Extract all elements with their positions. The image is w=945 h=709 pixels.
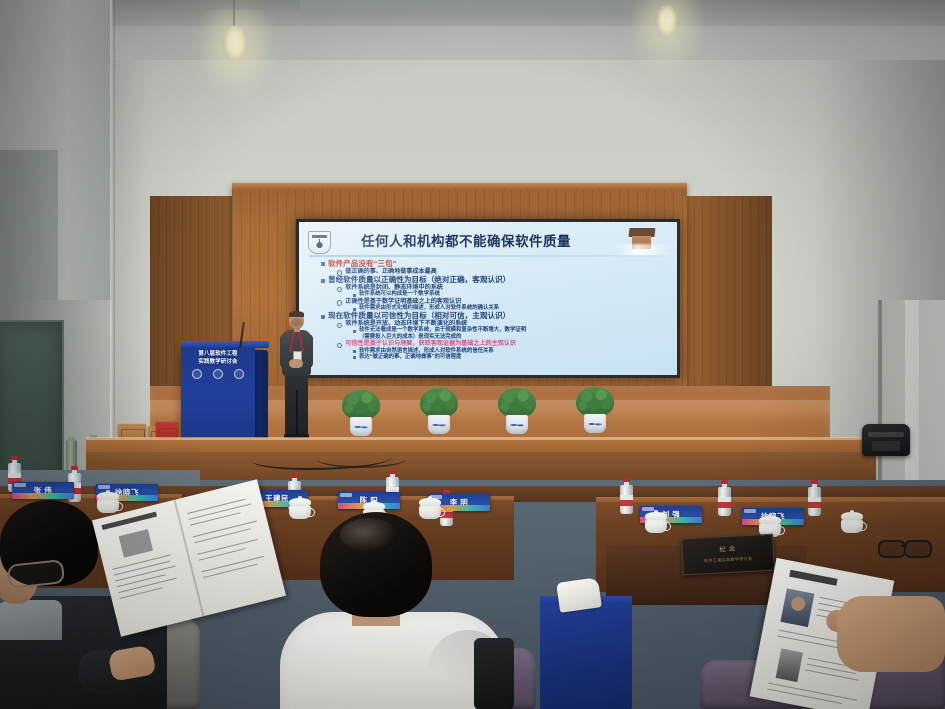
conference-tote-bag (540, 602, 632, 709)
potted-plant (418, 388, 460, 436)
ceiling-spotlight-right (655, 5, 679, 39)
presenter-hair (289, 311, 304, 317)
attendee-shoulder-bag (474, 638, 514, 709)
attendee-holding-program (742, 560, 945, 709)
attendee-collar (0, 600, 62, 640)
ceiling-beam-secondary (300, 0, 640, 16)
potted-plant (574, 387, 616, 435)
sponsor-logo-icon (213, 369, 223, 379)
conference-hall-photo: 任何人和机构都不能确保软件质量 软件产品没有“三包” 做正确的事、正确地做事成本… (0, 0, 945, 709)
podium-banner-text: 第八届软件工程 实践教学研讨会 (186, 351, 250, 367)
presenter (276, 312, 314, 440)
potted-plant (340, 390, 382, 438)
left-column-alcove (0, 150, 58, 300)
left-column-edge (110, 0, 115, 480)
presentation-slide: 任何人和机构都不能确保软件质量 软件产品没有“三包” 做正确的事、正确地做事成本… (299, 222, 677, 375)
presenter-leg-split (296, 390, 298, 436)
water-bottle (620, 478, 633, 514)
podium-logo-row (186, 368, 250, 380)
sponsor-logo-icon (192, 369, 202, 379)
water-bottle (718, 480, 731, 516)
tissue-paper (556, 577, 602, 613)
presenter-hands (289, 359, 303, 368)
plaque-title: 纪 念 (683, 542, 773, 556)
water-bottle (808, 480, 821, 516)
attendee-hand (837, 596, 945, 672)
stage-wall-top-trim (232, 183, 687, 190)
teacup (644, 512, 668, 534)
stage-wall-right-panel (686, 196, 772, 386)
attendee-hair-sheen (340, 518, 398, 552)
eyeglasses (878, 538, 938, 558)
right-door-jamb (905, 300, 919, 490)
podium-banner-line1: 第八届软件工程 (186, 351, 250, 359)
projection-screen: 任何人和机构都不能确保软件质量 软件产品没有“三包” 做正确的事、正确地做事成本… (296, 219, 680, 378)
presenter-face-shadow (291, 318, 302, 326)
podium-banner-line2: 实践教学研讨会 (186, 359, 250, 367)
potted-plant (496, 388, 538, 436)
podium-top-surface (181, 341, 269, 348)
teacup (840, 512, 864, 534)
attendee-white-shirt (278, 512, 533, 709)
stage-edge-highlight (86, 437, 876, 440)
name-plate: 张 伟 (12, 482, 74, 499)
backpack (862, 424, 910, 456)
sponsor-logo-icon (234, 369, 244, 379)
right-doorway-edge (878, 300, 882, 500)
screen-glare (299, 222, 677, 375)
spotlight-stem-left (233, 0, 235, 26)
ceiling-spotlight-left (222, 25, 248, 63)
floor-cable (316, 450, 406, 468)
